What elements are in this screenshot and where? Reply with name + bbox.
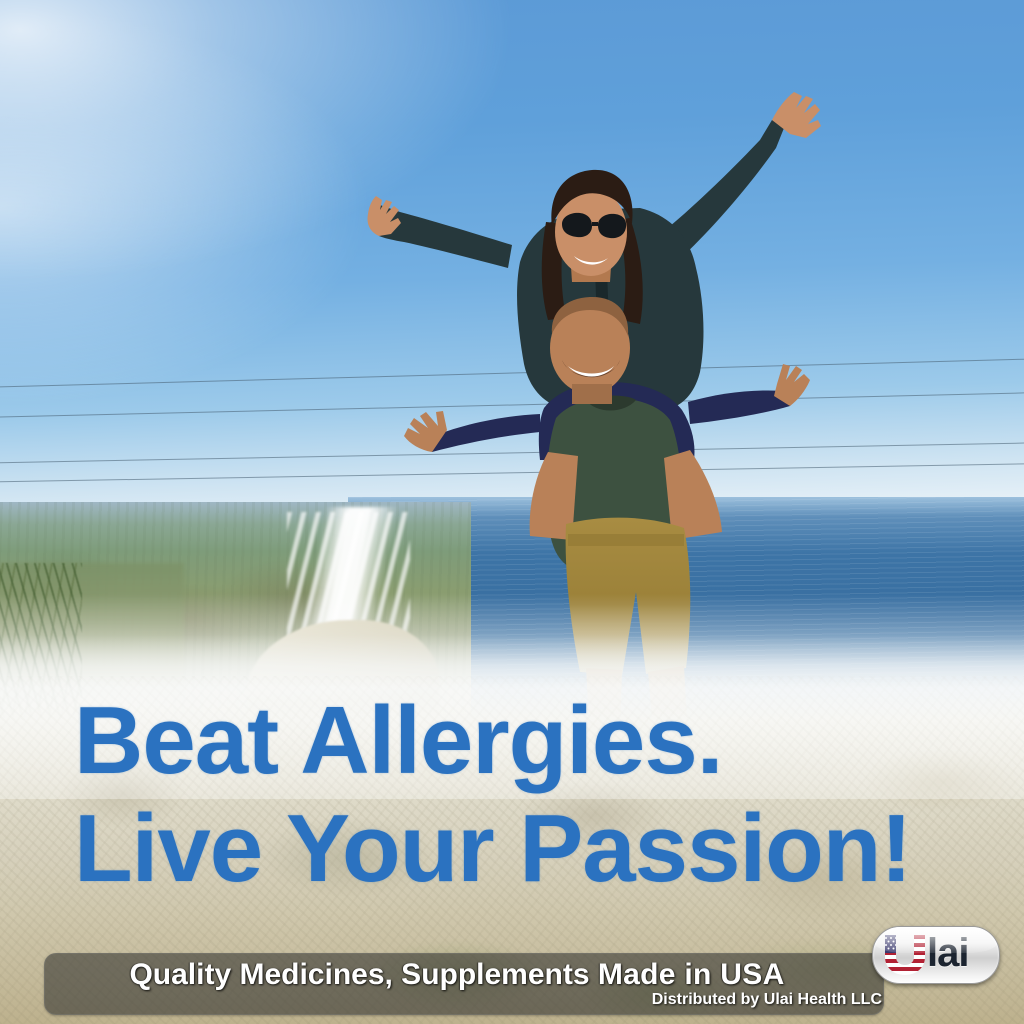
logo-wordmark: lai — [927, 931, 968, 976]
man-neck — [572, 384, 612, 404]
man-shorts-waistband — [568, 534, 684, 546]
woman-sunglasses-bridge — [592, 222, 598, 226]
headline-line-1: Beat Allergies. — [74, 687, 722, 794]
tagline-bold: Made in USA — [598, 958, 785, 991]
woman-sunglasses-right-lens — [598, 214, 626, 238]
distributor-text: Distributed by Ulai Health LLC — [652, 991, 882, 1009]
tagline-text: Quality Medicines, Supplements Made in U… — [45, 958, 869, 992]
advertisement-image: Beat Allergies. Live Your Passion! Quali… — [0, 0, 1024, 1024]
logo-inner: lai — [873, 927, 999, 983]
headline: Beat Allergies. Live Your Passion! — [74, 694, 974, 896]
tagline-regular: Quality Medicines, Supplements — [129, 958, 597, 991]
headline-line-2: Live Your Passion! — [74, 802, 974, 896]
us-flag-u-icon — [883, 935, 927, 975]
ulai-logo[interactable]: lai — [872, 926, 1000, 984]
